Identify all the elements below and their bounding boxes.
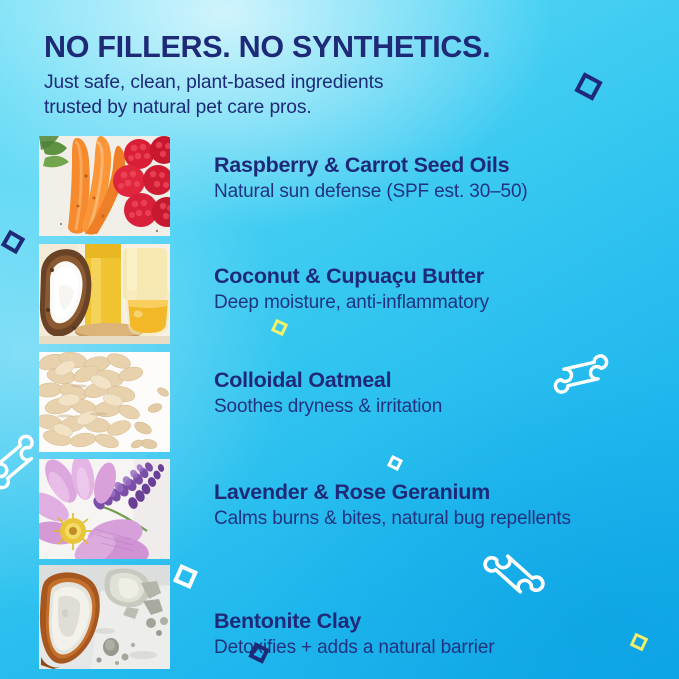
carrots-and-raspberries-photo	[39, 136, 170, 236]
ingredient-description: Deep moisture, anti-inflammatory	[214, 292, 664, 315]
coconut-and-oil-photo	[39, 244, 170, 344]
lavender-and-flower-photo	[39, 459, 170, 559]
list-item: Bentonite Clay Detoxifies + adds a natur…	[39, 565, 664, 673]
ingredient-list: Raspberry & Carrot Seed Oils Natural sun…	[0, 0, 679, 679]
ingredient-text: Colloidal Oatmeal Soothes dryness & irri…	[214, 368, 664, 419]
ingredient-title: Lavender & Rose Geranium	[214, 480, 664, 504]
ingredient-description: Natural sun defense (SPF est. 30–50)	[214, 181, 664, 204]
ingredient-text: Bentonite Clay Detoxifies + adds a natur…	[214, 609, 664, 660]
bentonite-clay-bowl-photo	[39, 565, 170, 669]
list-item: Coconut & Cupuaçu Butter Deep moisture, …	[39, 244, 664, 352]
ingredient-text: Raspberry & Carrot Seed Oils Natural sun…	[214, 153, 664, 204]
ingredient-description: Detoxifies + adds a natural barrier	[214, 637, 664, 660]
ingredient-title: Coconut & Cupuaçu Butter	[214, 264, 664, 288]
infographic-canvas: NO FILLERS. NO SYNTHETICS. Just safe, cl…	[0, 0, 679, 679]
ingredient-title: Colloidal Oatmeal	[214, 368, 664, 392]
ingredient-description: Soothes dryness & irritation	[214, 396, 664, 419]
ingredient-description: Calms burns & bites, natural bug repelle…	[214, 508, 664, 531]
ingredient-text: Coconut & Cupuaçu Butter Deep moisture, …	[214, 264, 664, 315]
list-item: Lavender & Rose Geranium Calms burns & b…	[39, 459, 664, 567]
ingredient-text: Lavender & Rose Geranium Calms burns & b…	[214, 480, 664, 531]
rolled-oats-photo	[39, 352, 170, 452]
list-item: Colloidal Oatmeal Soothes dryness & irri…	[39, 352, 664, 460]
ingredient-title: Bentonite Clay	[214, 609, 664, 633]
ingredient-title: Raspberry & Carrot Seed Oils	[214, 153, 664, 177]
list-item: Raspberry & Carrot Seed Oils Natural sun…	[39, 136, 664, 244]
